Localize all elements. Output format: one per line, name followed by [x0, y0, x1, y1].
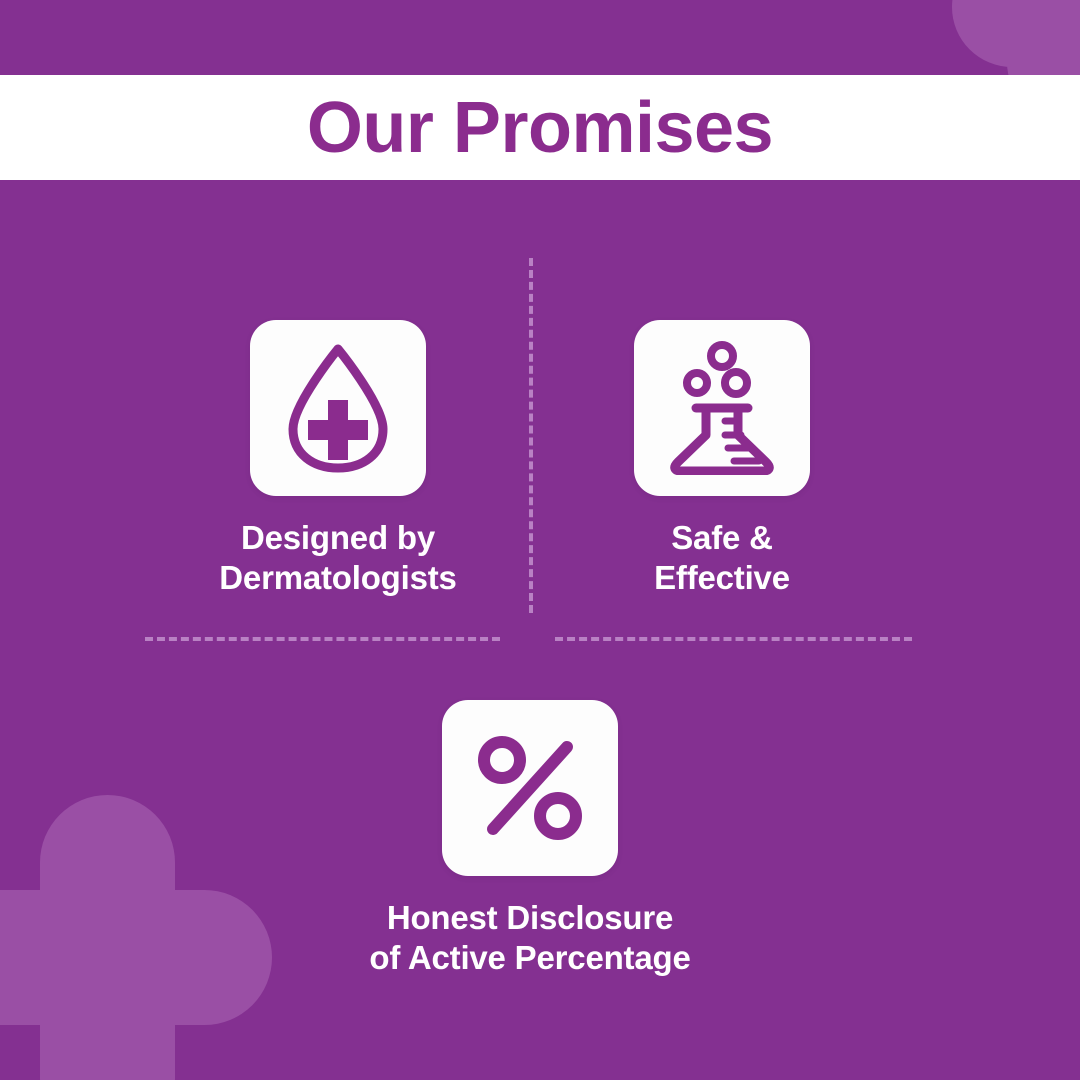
page-title: Our Promises [307, 92, 773, 164]
promise-label: Honest Disclosure of Active Percentage [369, 898, 690, 979]
droplet-plus-icon [279, 342, 397, 474]
promise-label: Designed by Dermatologists [219, 518, 456, 599]
promise-label: Safe & Effective [654, 518, 790, 599]
cross-horizontal-bar [952, 0, 1080, 67]
header-band: Our Promises [0, 75, 1080, 180]
promise-item: Honest Disclosure of Active Percentage [340, 700, 720, 979]
flask-icon [662, 341, 782, 475]
promise-icon-tile [250, 320, 426, 496]
percent-icon [476, 734, 584, 842]
promise-item: Safe & Effective [552, 320, 892, 599]
promise-item: Designed by Dermatologists [148, 320, 528, 599]
promises-grid: Designed by Dermatologists [0, 180, 1080, 1080]
promises-graphic: Our Promises Designed by Dermatologists [0, 0, 1080, 1080]
promise-icon-tile [634, 320, 810, 496]
promise-icon-tile [442, 700, 618, 876]
